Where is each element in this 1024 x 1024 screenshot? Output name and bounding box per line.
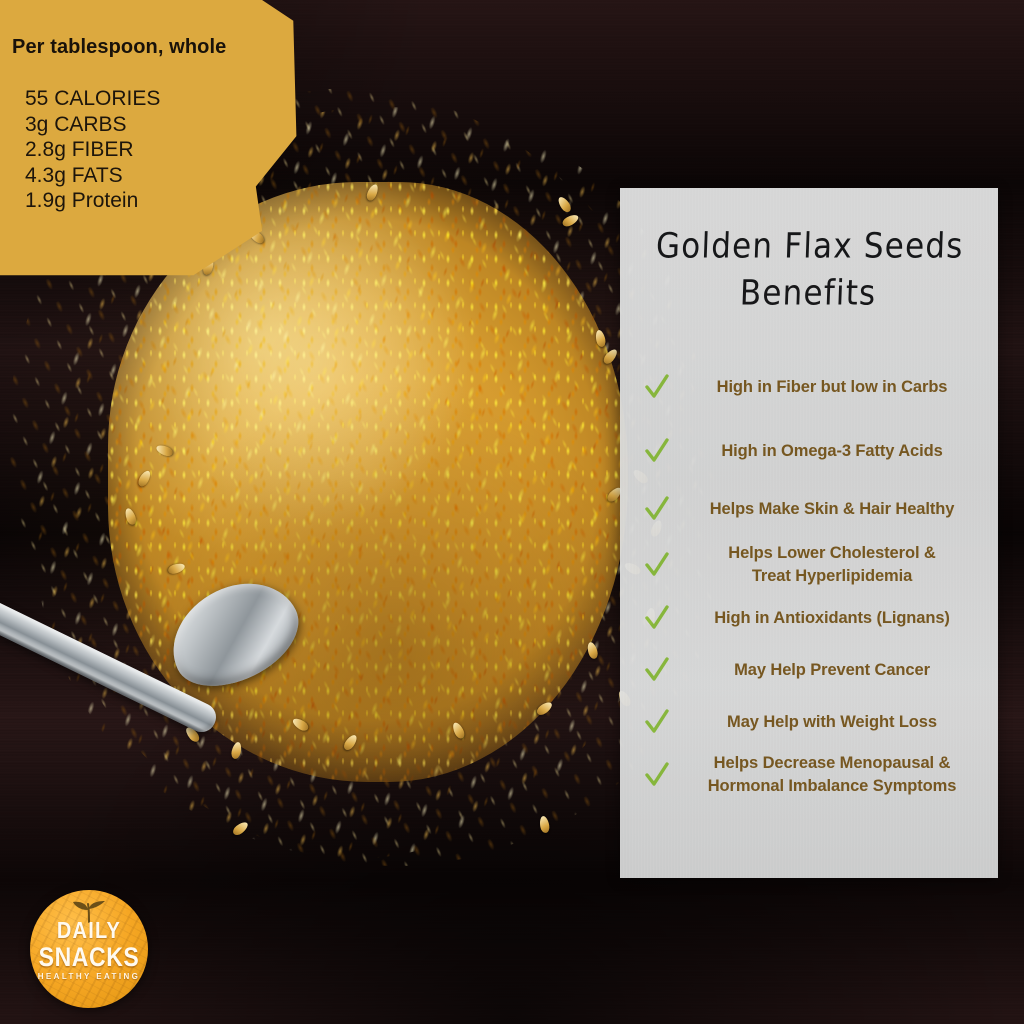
nutrition-heading: Per tablespoon, whole (12, 36, 226, 59)
benefit-item: Helps Make Skin & Hair Healthy (620, 488, 998, 530)
check-icon (644, 760, 670, 790)
nutrition-item: 1.9g Protein (25, 188, 160, 214)
nutrition-item: 4.3g FATS (25, 163, 160, 189)
benefit-item: High in Fiber but low in Carbs (620, 366, 998, 408)
benefit-item: May Help Prevent Cancer (620, 649, 998, 691)
check-icon (644, 707, 670, 737)
benefits-panel: Golden Flax Seeds Benefits High in Fiber… (620, 188, 998, 878)
benefit-label: May Help with Weight Loss (620, 711, 998, 733)
nutrition-item: 3g CARBS (25, 112, 160, 138)
benefit-label: Helps Lower Cholesterol &Treat Hyperlipi… (620, 542, 998, 588)
benefit-label: May Help Prevent Cancer (620, 659, 998, 681)
nutrition-item: 2.8g FIBER (25, 137, 160, 163)
check-icon (644, 494, 670, 524)
brand-logo[interactable]: DAILY SNACKS HEALTHY EATING (30, 890, 148, 1008)
logo-tagline: HEALTHY EATING (30, 972, 148, 981)
benefits-list: High in Fiber but low in Carbs High in O… (620, 366, 998, 803)
check-icon (644, 603, 670, 633)
benefit-label: High in Omega-3 Fatty Acids (620, 440, 998, 462)
check-icon (644, 550, 670, 580)
panel-title: Golden Flax Seeds Benefits (618, 223, 999, 317)
benefit-item: High in Omega-3 Fatty Acids (620, 430, 998, 472)
benefit-label: High in Antioxidants (Lignans) (620, 607, 998, 629)
benefit-item: High in Antioxidants (Lignans) (620, 597, 998, 639)
benefit-label: High in Fiber but low in Carbs (620, 376, 998, 398)
benefit-item: Helps Decrease Menopausal &Hormonal Imba… (620, 752, 998, 798)
check-icon (644, 436, 670, 466)
benefit-label: Helps Make Skin & Hair Healthy (620, 498, 998, 520)
logo-line-2: SNACKS (30, 942, 148, 973)
nutrition-facts-list: 55 CALORIES 3g CARBS 2.8g FIBER 4.3g FAT… (25, 86, 160, 214)
logo-line-1: DAILY (30, 918, 148, 944)
benefit-item: Helps Lower Cholesterol &Treat Hyperlipi… (620, 542, 998, 588)
benefit-item: May Help with Weight Loss (620, 701, 998, 743)
panel-title-line-1: Golden Flax Seeds (620, 223, 1000, 270)
check-icon (644, 655, 670, 685)
check-icon (644, 372, 670, 402)
panel-title-line-2: Benefits (618, 270, 998, 317)
infographic-canvas: Per tablespoon, whole 55 CALORIES 3g CAR… (0, 0, 1024, 1024)
nutrition-item: 55 CALORIES (25, 86, 160, 112)
benefit-label: Helps Decrease Menopausal &Hormonal Imba… (620, 752, 998, 798)
